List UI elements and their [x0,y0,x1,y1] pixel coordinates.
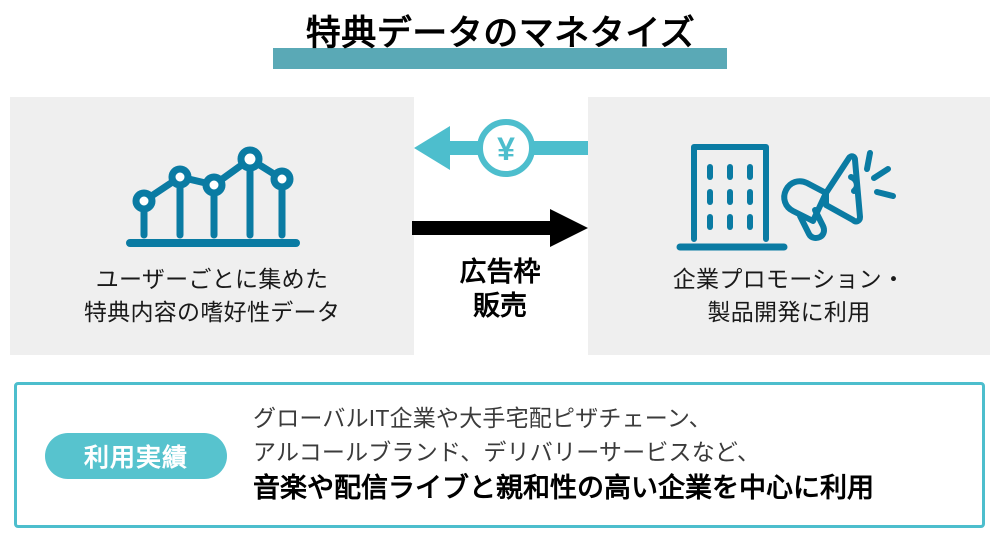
results-line-2: アルコールブランド、デリバリーサービスなど、 [253,435,973,469]
yen-badge-icon: ¥ [480,122,532,174]
results-line-1: グローバルIT企業や大手宅配ピザチェーン、 [253,401,973,435]
results-text-block: グローバルIT企業や大手宅配ピザチェーン、 アルコールブランド、デリバリーサービ… [253,401,973,507]
card-company-use: 企業プロモーション・ 製品開発に利用 [588,97,990,355]
building-megaphone-icon [588,123,990,263]
results-panel: 利用実績 グローバルIT企業や大手宅配ピザチェーン、 アルコールブランド、デリバ… [14,382,985,528]
flow-arrows: ¥ [410,110,590,260]
page-title: 特典データのマネタイズ [0,12,1001,56]
card-right-caption: 企業プロモーション・ 製品開発に利用 [588,263,990,329]
megaphone-icon [784,153,893,238]
results-line-3: 音楽や配信ライブと親和性の高い企業を中心に利用 [253,469,973,507]
card-user-data: ユーザーごとに集めた 特典内容の嗜好性データ [10,97,414,355]
bar-line-chart-icon [10,123,414,263]
flow-label: 広告枠 販売 [410,255,590,323]
ad-arrow-shape [412,209,588,247]
page-title-block: 特典データのマネタイズ [0,8,1001,70]
card-left-caption: ユーザーごとに集めた 特典内容の嗜好性データ [10,263,414,329]
results-badge: 利用実績 [45,433,227,479]
svg-text:¥: ¥ [497,131,515,167]
